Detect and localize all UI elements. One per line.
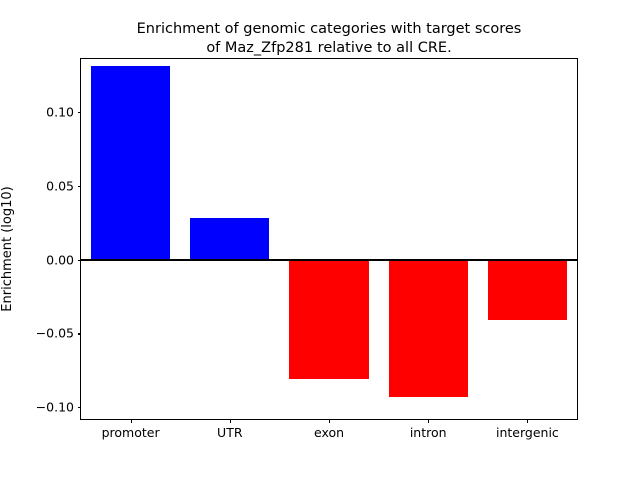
y-tick-mark bbox=[78, 407, 82, 408]
y-tick-label: 0.05 bbox=[46, 178, 74, 193]
x-tick-mark bbox=[527, 419, 528, 423]
x-tick-label-exon: exon bbox=[314, 425, 344, 440]
x-tick-mark bbox=[131, 419, 132, 423]
y-tick-label: 0.00 bbox=[46, 252, 74, 267]
bar-UTR bbox=[190, 218, 269, 259]
bar-exon bbox=[289, 260, 368, 380]
zero-baseline bbox=[81, 259, 577, 261]
x-tick-mark bbox=[329, 419, 330, 423]
x-tick-mark bbox=[230, 419, 231, 423]
y-axis-label: Enrichment (log10) bbox=[0, 68, 20, 430]
x-tick-mark bbox=[428, 419, 429, 423]
bar-chart-figure: Enrichment of genomic categories with ta… bbox=[0, 0, 640, 480]
y-tick-label: −0.05 bbox=[36, 326, 74, 341]
x-tick-label-UTR: UTR bbox=[217, 425, 242, 440]
y-tick-mark bbox=[78, 333, 82, 334]
bar-intron bbox=[389, 260, 468, 397]
chart-title: Enrichment of genomic categories with ta… bbox=[80, 20, 578, 58]
y-tick-mark bbox=[78, 112, 82, 113]
bar-promoter bbox=[91, 66, 170, 259]
y-tick-mark bbox=[78, 260, 82, 261]
y-tick-label: −0.10 bbox=[36, 400, 74, 415]
y-tick-mark bbox=[78, 186, 82, 187]
x-tick-label-intergenic: intergenic bbox=[496, 425, 559, 440]
x-tick-label-promoter: promoter bbox=[102, 425, 160, 440]
plot-area: 0.100.050.00−0.05−0.10 promoterUTRexonin… bbox=[80, 58, 578, 420]
x-tick-label-intron: intron bbox=[410, 425, 447, 440]
bar-intergenic bbox=[488, 260, 567, 320]
y-tick-label: 0.10 bbox=[46, 105, 74, 120]
